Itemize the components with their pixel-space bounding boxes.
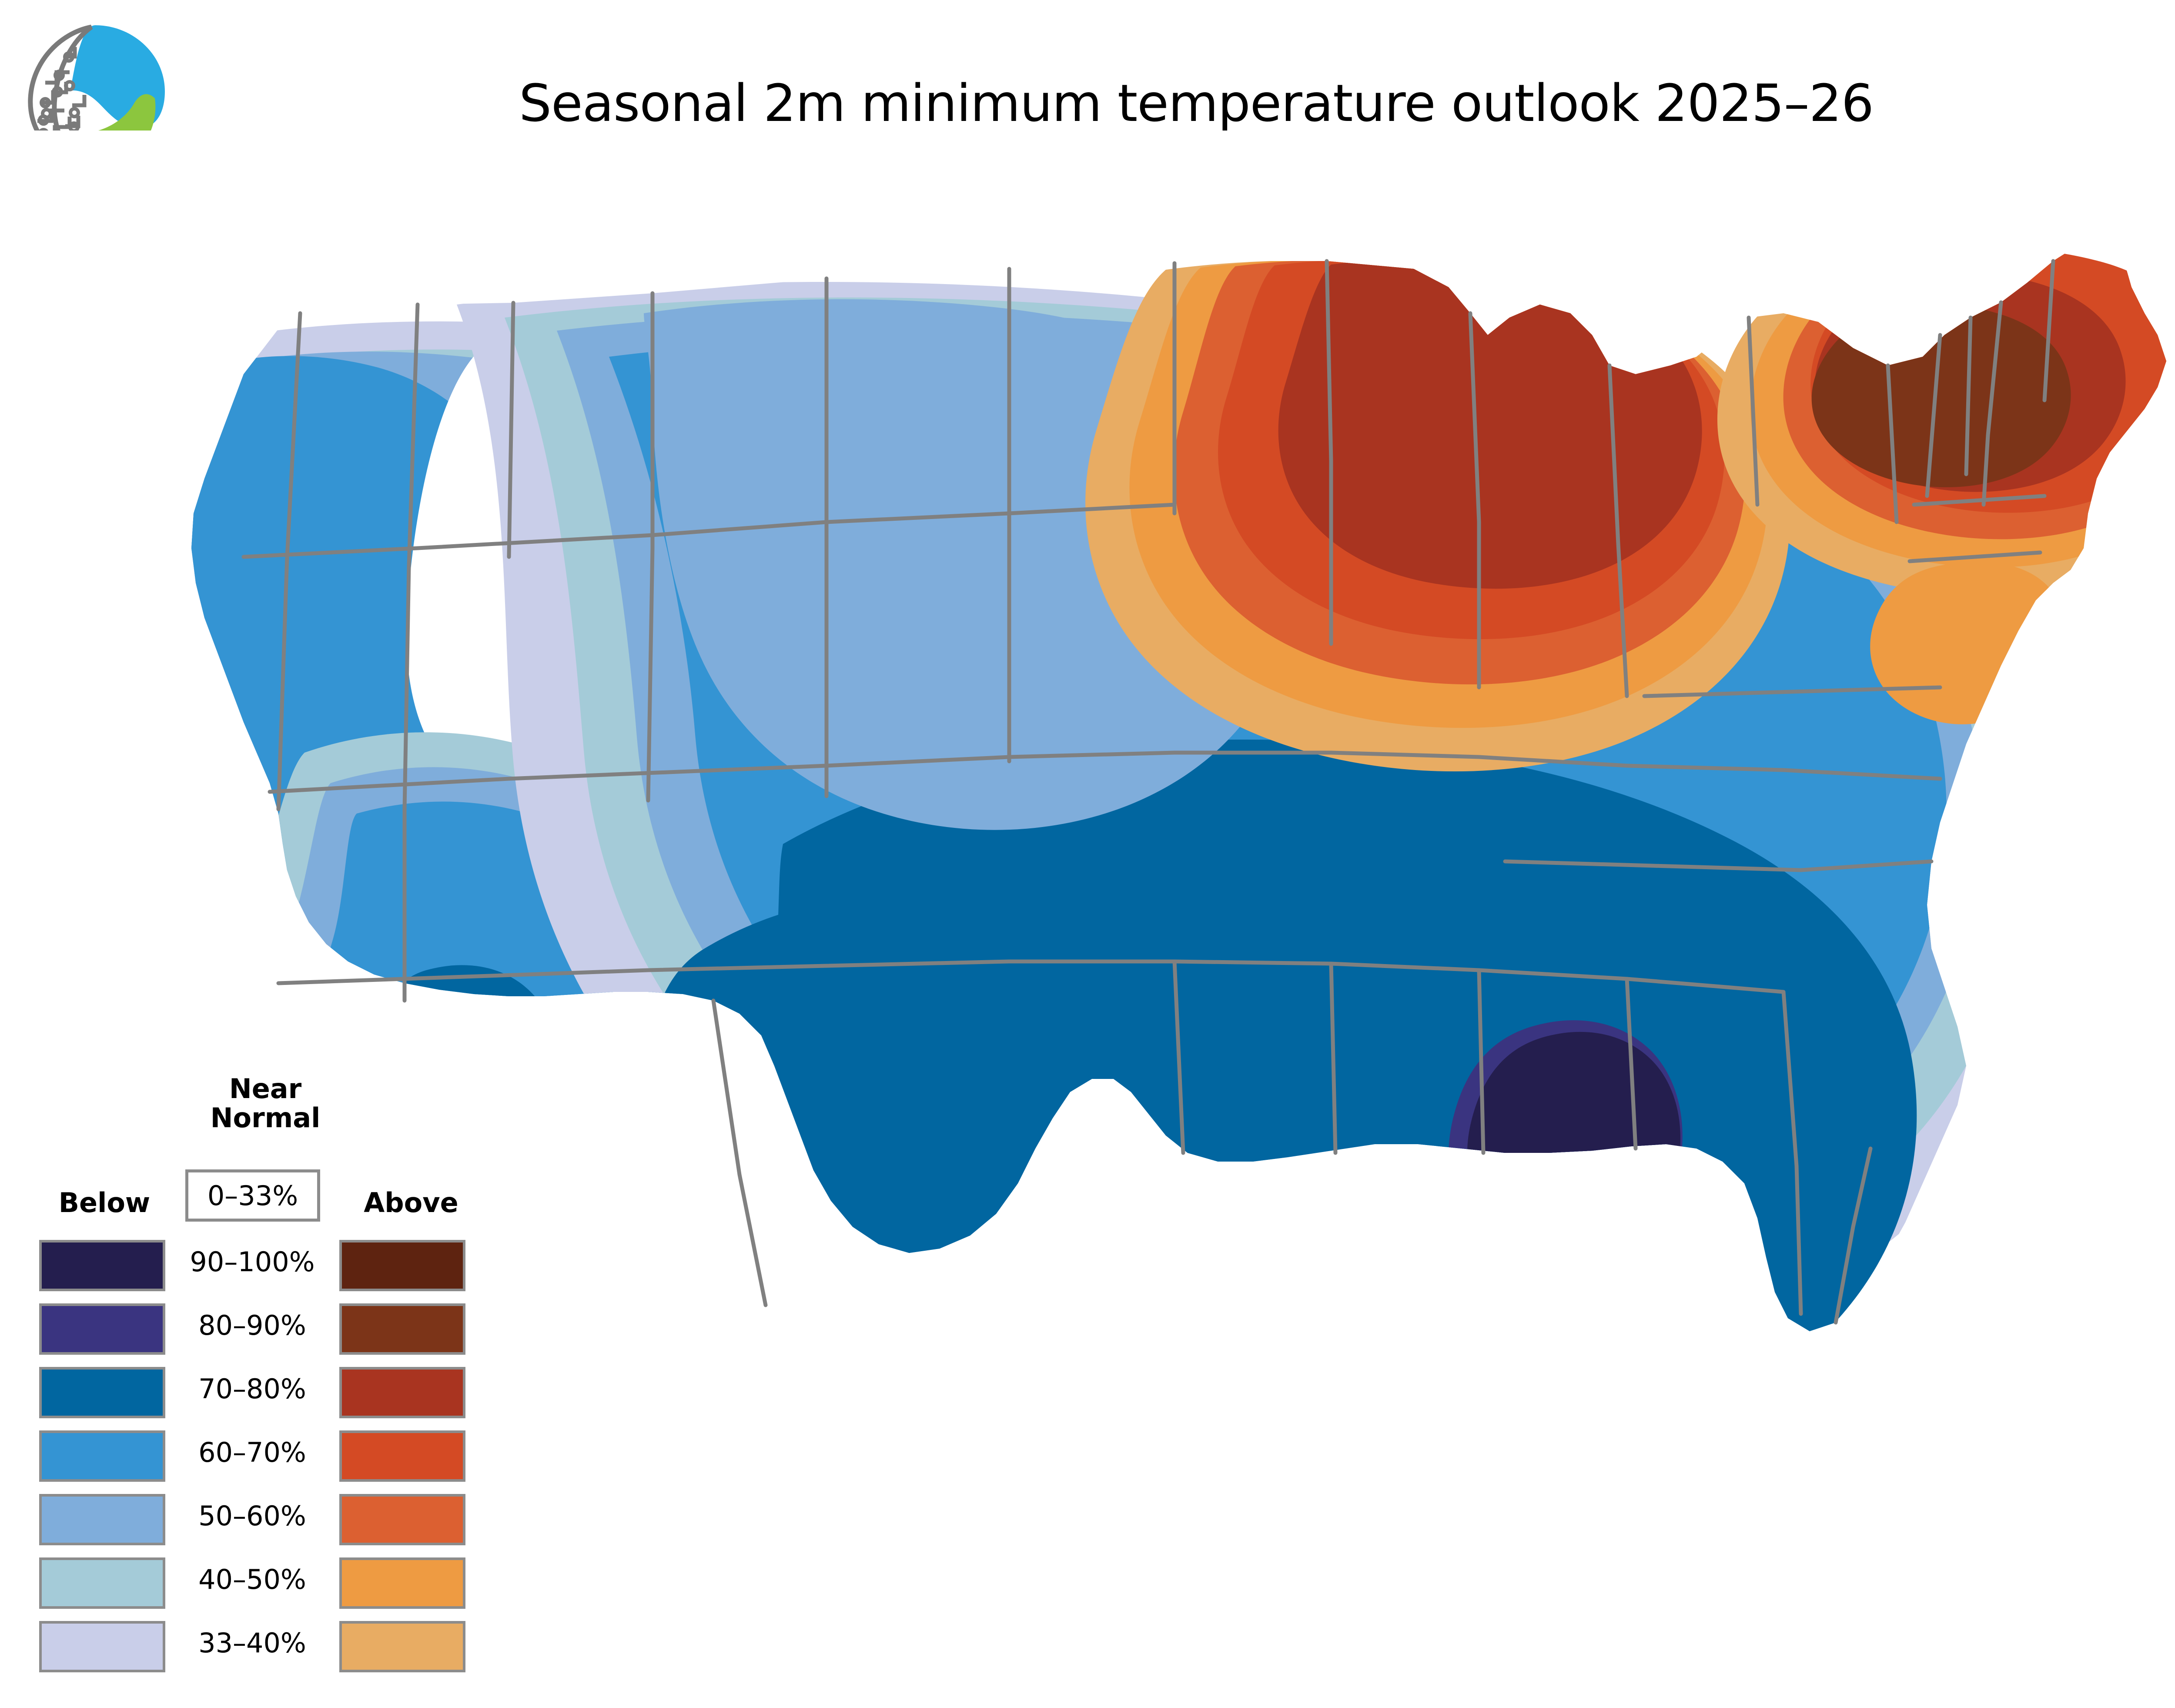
legend-row-list: 90–100%80–90%70–80%60–70%50–60%40–50%33–… bbox=[39, 1240, 474, 1685]
legend-swatch-below bbox=[39, 1494, 165, 1545]
legend-swatch-above bbox=[339, 1430, 465, 1482]
legend-near-normal-heading: Near Normal bbox=[174, 1075, 357, 1133]
legend-swatch-below bbox=[39, 1621, 165, 1672]
legend-swatch-above bbox=[339, 1240, 465, 1291]
legend-near-normal-swatch: 0–33% bbox=[185, 1169, 320, 1222]
legend-swatch-below bbox=[39, 1240, 165, 1291]
legend-swatch-below bbox=[39, 1303, 165, 1355]
legend-row: 40–50% bbox=[39, 1557, 474, 1613]
legend-range-label: 80–90% bbox=[170, 1309, 335, 1341]
legend-near-normal-line2: Normal bbox=[211, 1102, 321, 1134]
legend-range-label: 90–100% bbox=[170, 1246, 335, 1278]
legend-swatch-above bbox=[339, 1303, 465, 1355]
legend-swatch-below bbox=[39, 1367, 165, 1418]
legend-swatch-below bbox=[39, 1557, 165, 1609]
legend-swatch-below bbox=[39, 1430, 165, 1482]
legend-swatch-above bbox=[339, 1367, 465, 1418]
legend-above-heading: Above bbox=[339, 1187, 483, 1219]
legend-row: 90–100% bbox=[39, 1240, 474, 1296]
legend-swatch-above bbox=[339, 1621, 465, 1672]
legend-near-normal-value: 0–33% bbox=[207, 1180, 298, 1212]
legend-below-heading: Below bbox=[39, 1187, 170, 1219]
probability-legend: Near Normal 0–33% Below Above 90–100%80–… bbox=[39, 1075, 474, 1692]
legend-range-label: 50–60% bbox=[170, 1500, 335, 1532]
legend-row: 50–60% bbox=[39, 1494, 474, 1550]
legend-row: 60–70% bbox=[39, 1430, 474, 1486]
legend-range-label: 40–50% bbox=[170, 1564, 335, 1595]
legend-swatch-above bbox=[339, 1557, 465, 1609]
legend-row: 33–40% bbox=[39, 1621, 474, 1677]
legend-range-label: 70–80% bbox=[170, 1373, 335, 1405]
legend-near-normal-line1: Near bbox=[229, 1073, 301, 1105]
legend-swatch-above bbox=[339, 1494, 465, 1545]
page-title: Seasonal 2m minimum temperature outlook … bbox=[492, 73, 1901, 133]
legend-range-label: 33–40% bbox=[170, 1627, 335, 1659]
legend-row: 70–80% bbox=[39, 1367, 474, 1423]
legend-row: 80–90% bbox=[39, 1303, 474, 1359]
legend-range-label: 60–70% bbox=[170, 1437, 335, 1468]
